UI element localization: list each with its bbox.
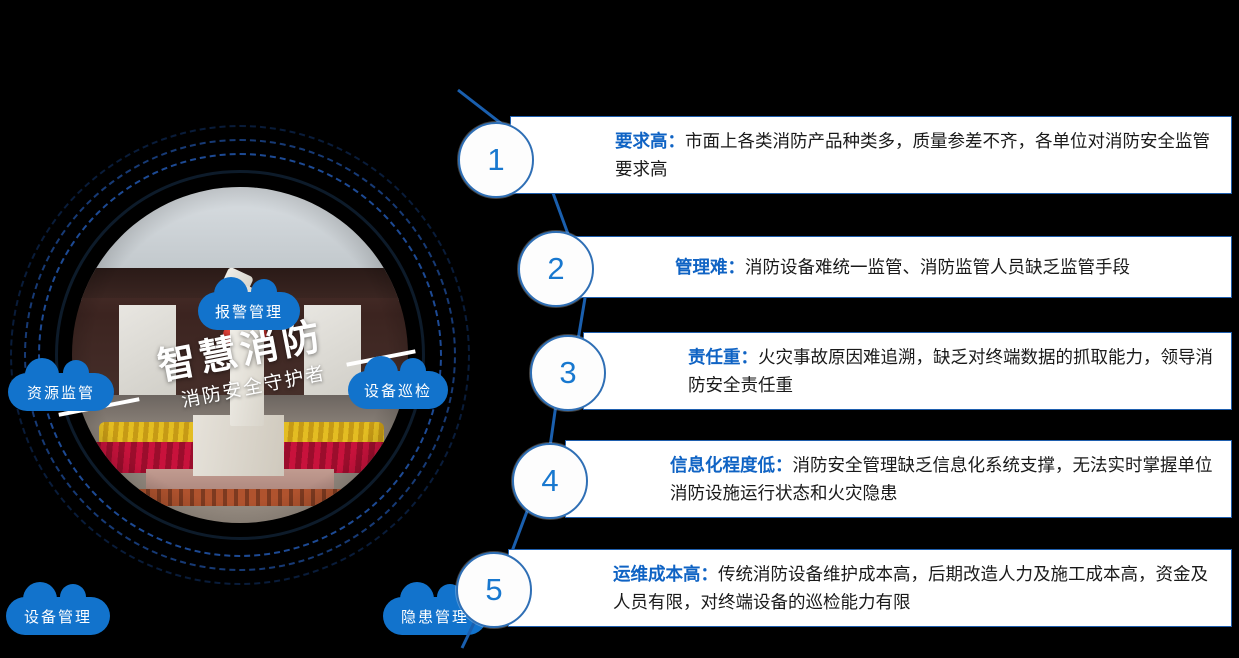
cloud-label-text: 设备管理 [24,606,92,627]
list-item-body: 火灾事故原因难追溯，缺乏对终端数据的抓取能力，领导消防安全责任重 [688,347,1213,395]
photo-layers [72,187,408,523]
cloud-label-text: 设备巡检 [364,380,432,401]
cloud-label-text: 资源监管 [27,382,95,403]
list-item-number[interactable]: 2 [518,231,594,307]
list-item-bar: 管理难：消防设备难统一监管、消防监管人员缺乏监管手段 [570,236,1232,298]
list-item-number[interactable]: 1 [458,122,534,198]
list-item-text: 要求高：市面上各类消防产品种类多，质量参差不齐，各单位对消防安全监管要求高 [511,127,1231,183]
hero-circle-graphic: 智慧消防 消防安全守护者 报警管理 资源监管 设备巡检 设备管理 隐患管理 统计… [0,140,440,640]
list-item-lead: 信息化程度低： [670,455,793,475]
list-item-number[interactable]: 4 [512,443,588,519]
list-item-lead: 运维成本高： [613,564,718,584]
statue-plaza-photo [72,187,408,523]
list-item-lead: 管理难： [675,257,745,277]
list-item-number[interactable]: 3 [530,335,606,411]
cloud-label-resource[interactable]: 资源监管 [8,373,114,411]
cloud-label-text: 报警管理 [215,301,283,322]
cloud-label-device[interactable]: 设备管理 [6,597,110,635]
list-item-bar: 信息化程度低：消防安全管理缺乏信息化系统支撑，无法实时掌握单位消防设施运行状态和… [565,440,1232,518]
list-item-text: 运维成本高：传统消防设备维护成本高，后期改造人力及施工成本高，资金及人员有限，对… [509,560,1231,616]
list-item-text: 信息化程度低：消防安全管理缺乏信息化系统支撑，无法实时掌握单位消防设施运行状态和… [566,451,1231,507]
list-item-body: 消防设备难统一监管、消防监管人员缺乏监管手段 [745,257,1130,277]
cloud-label-text: 隐患管理 [401,606,469,627]
list-item-bar: 运维成本高：传统消防设备维护成本高，后期改造人力及施工成本高，资金及人员有限，对… [508,549,1232,627]
pain-point-list: 要求高：市面上各类消防产品种类多，质量参差不齐，各单位对消防安全监管要求高 1 … [440,0,1239,658]
list-item-lead: 责任重： [688,347,758,367]
list-item-bar: 责任重：火灾事故原因难追溯，缺乏对终端数据的抓取能力，领导消防安全责任重 [583,332,1232,410]
list-item-lead: 要求高： [615,131,685,151]
cloud-label-alarm[interactable]: 报警管理 [198,292,300,330]
cloud-label-inspect[interactable]: 设备巡检 [348,371,448,409]
list-item-number[interactable]: 5 [456,552,532,628]
slide-canvas: 智慧消防 消防安全守护者 报警管理 资源监管 设备巡检 设备管理 隐患管理 统计… [0,0,1239,658]
list-item-body: 市面上各类消防产品种类多，质量参差不齐，各单位对消防安全监管要求高 [615,131,1210,179]
list-item-text: 责任重：火灾事故原因难追溯，缺乏对终端数据的抓取能力，领导消防安全责任重 [584,343,1231,399]
list-item-bar: 要求高：市面上各类消防产品种类多，质量参差不齐，各单位对消防安全监管要求高 [510,116,1232,194]
list-item-text: 管理难：消防设备难统一监管、消防监管人员缺乏监管手段 [571,253,1138,281]
photo-vignette [72,187,408,523]
